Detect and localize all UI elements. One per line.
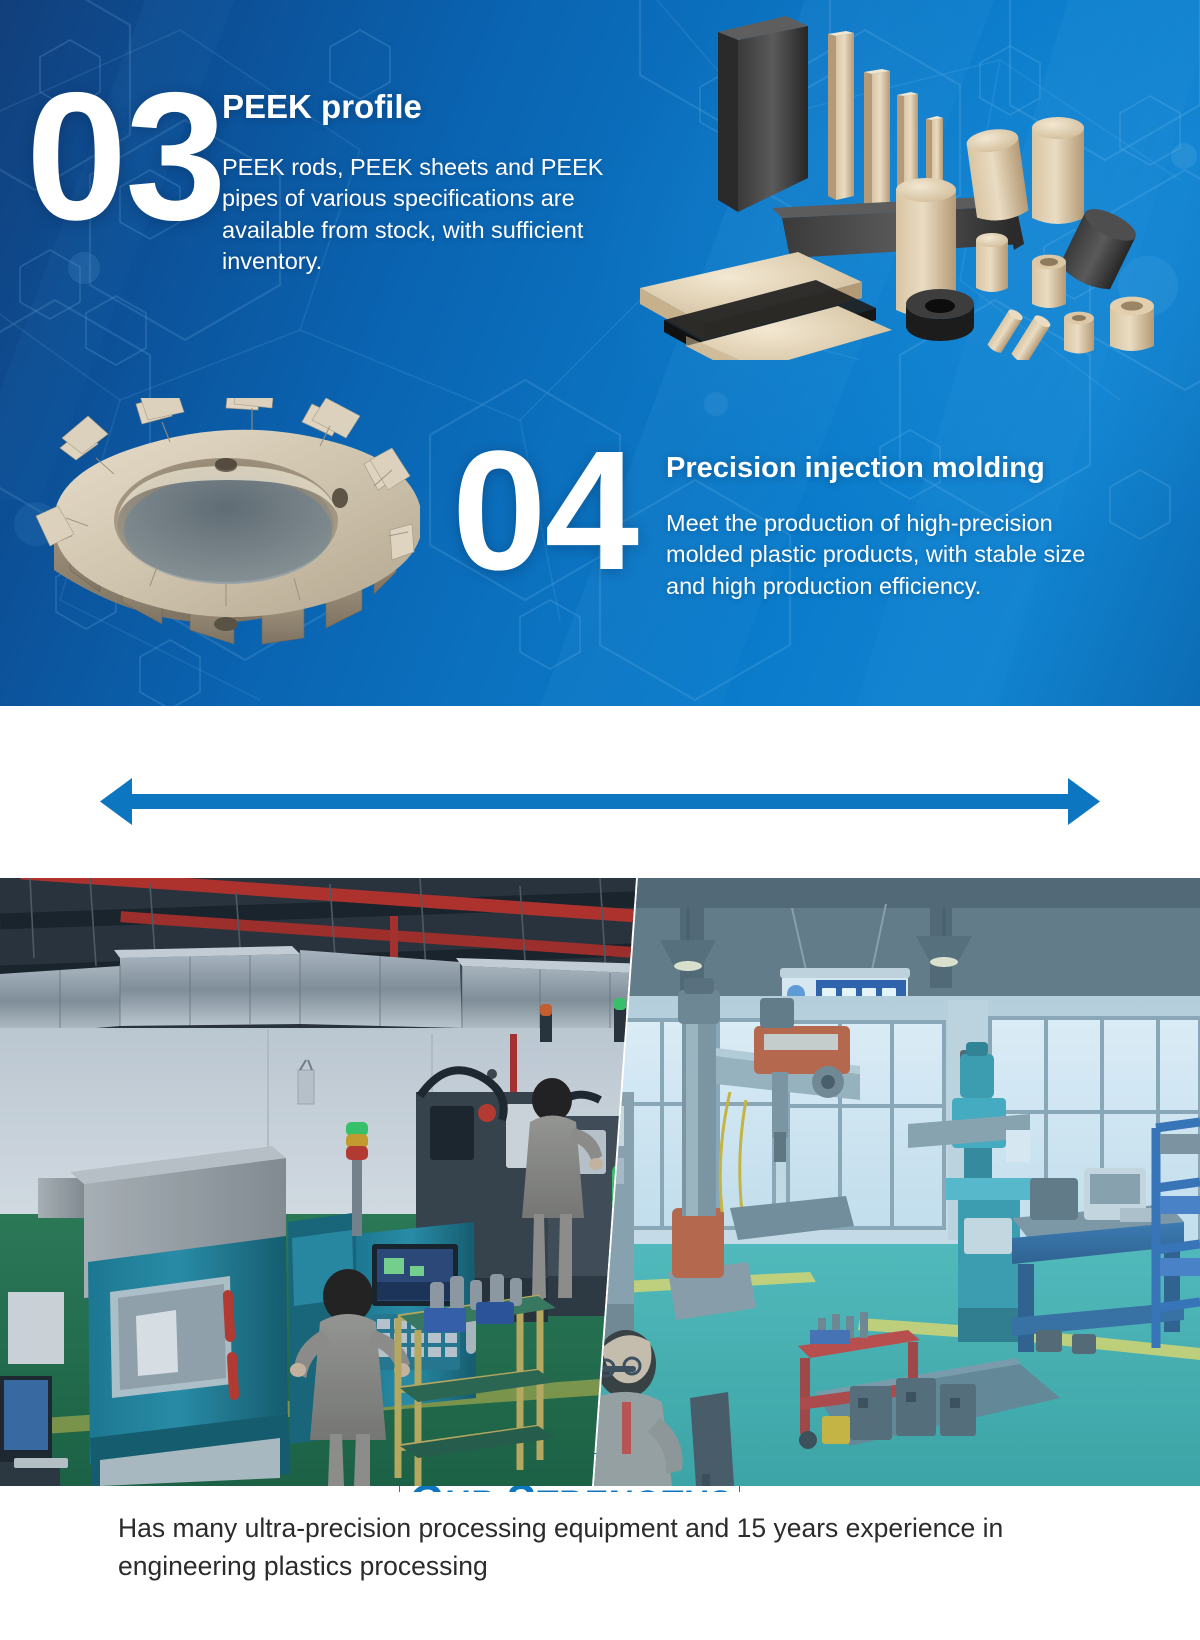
peek-profiles-photo xyxy=(600,0,1200,360)
double-arrow-divider xyxy=(0,706,1200,878)
our-strengths-banner: OUR STRENGTHS xyxy=(0,706,1200,878)
block-title-04: Precision injection molding xyxy=(666,452,1045,485)
factory-photo-gallery xyxy=(0,878,1200,1486)
block-number-03: 03 xyxy=(26,78,224,235)
block-body-03: PEEK rods, PEEK sheets and PEEK pipes of… xyxy=(222,152,647,277)
cnc-machining-workshop-photo xyxy=(0,878,660,1486)
block-body-04: Meet the production of high-precision mo… xyxy=(666,508,1091,602)
block-number-04: 04 xyxy=(452,438,637,584)
peek-gear-ring-photo xyxy=(30,398,420,678)
page-root: 03 PEEK profile PEEK rods, PEEK sheets a… xyxy=(0,0,1200,1640)
mold-workshop-photo xyxy=(560,878,1200,1486)
block-title-03: PEEK profile xyxy=(222,88,422,126)
caption-block: Has many ultra-precision processing equi… xyxy=(0,1492,1200,1640)
hero-panel: 03 PEEK profile PEEK rods, PEEK sheets a… xyxy=(0,0,1200,706)
caption-text: Has many ultra-precision processing equi… xyxy=(118,1510,1082,1585)
